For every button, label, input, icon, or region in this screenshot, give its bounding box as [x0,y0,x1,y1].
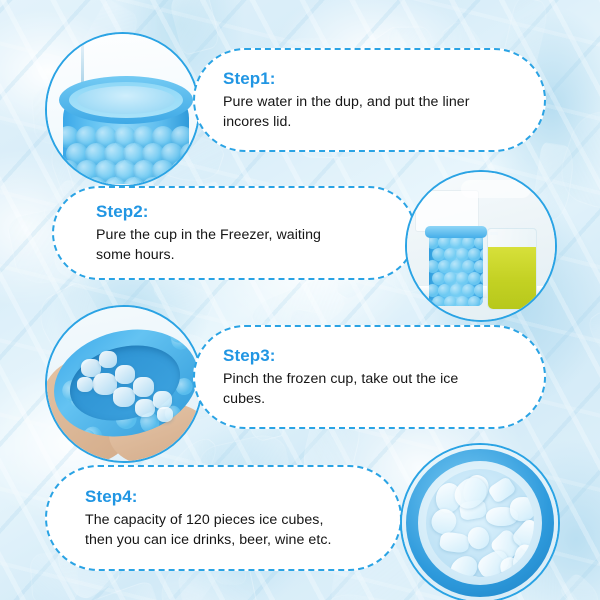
step-4-callout: Step4: The capacity of 120 pieces ice cu… [45,465,402,571]
silicone-ice-cup-pouring-water-photo [45,32,200,187]
step-1-body: Pure water in the dup, and put the liner… [223,92,518,132]
step-3-callout: Step3: Pinch the frozen cup, take out th… [193,325,546,429]
juice-liquid [488,247,536,309]
ice-cup-lid [425,226,487,238]
step-4-title: Step4: [85,486,374,507]
hands-pinching-frozen-cup-photo [45,305,203,463]
ice-cup-body [429,234,483,306]
step-1-callout: Step1: Pure water in the dup, and put th… [193,48,546,152]
step-2-title: Step2: [96,201,388,222]
juice-pitcher [487,228,537,310]
cup-opening [77,86,175,114]
step-4-body: The capacity of 120 pieces ice cubes, th… [85,510,374,550]
cup-full-of-ice-cubes-top-view-photo [400,443,560,600]
ice-filled-well [426,469,534,577]
step-1-title: Step1: [223,68,518,89]
released-ice-cubes [47,307,201,461]
step-3-body: Pinch the frozen cup, take out the ice c… [223,369,518,409]
step-3-title: Step3: [223,345,518,366]
step-2-body: Pure the cup in the Freezer, waiting som… [96,225,388,265]
ice-cup-in-freezer-with-juice-pitcher-photo [405,170,557,322]
step-2-callout: Step2: Pure the cup in the Freezer, wait… [52,186,416,280]
ice-cup-instruction-infographic: Step1: Pure water in the dup, and put th… [0,0,600,600]
freezer-panel-upper [461,180,531,198]
